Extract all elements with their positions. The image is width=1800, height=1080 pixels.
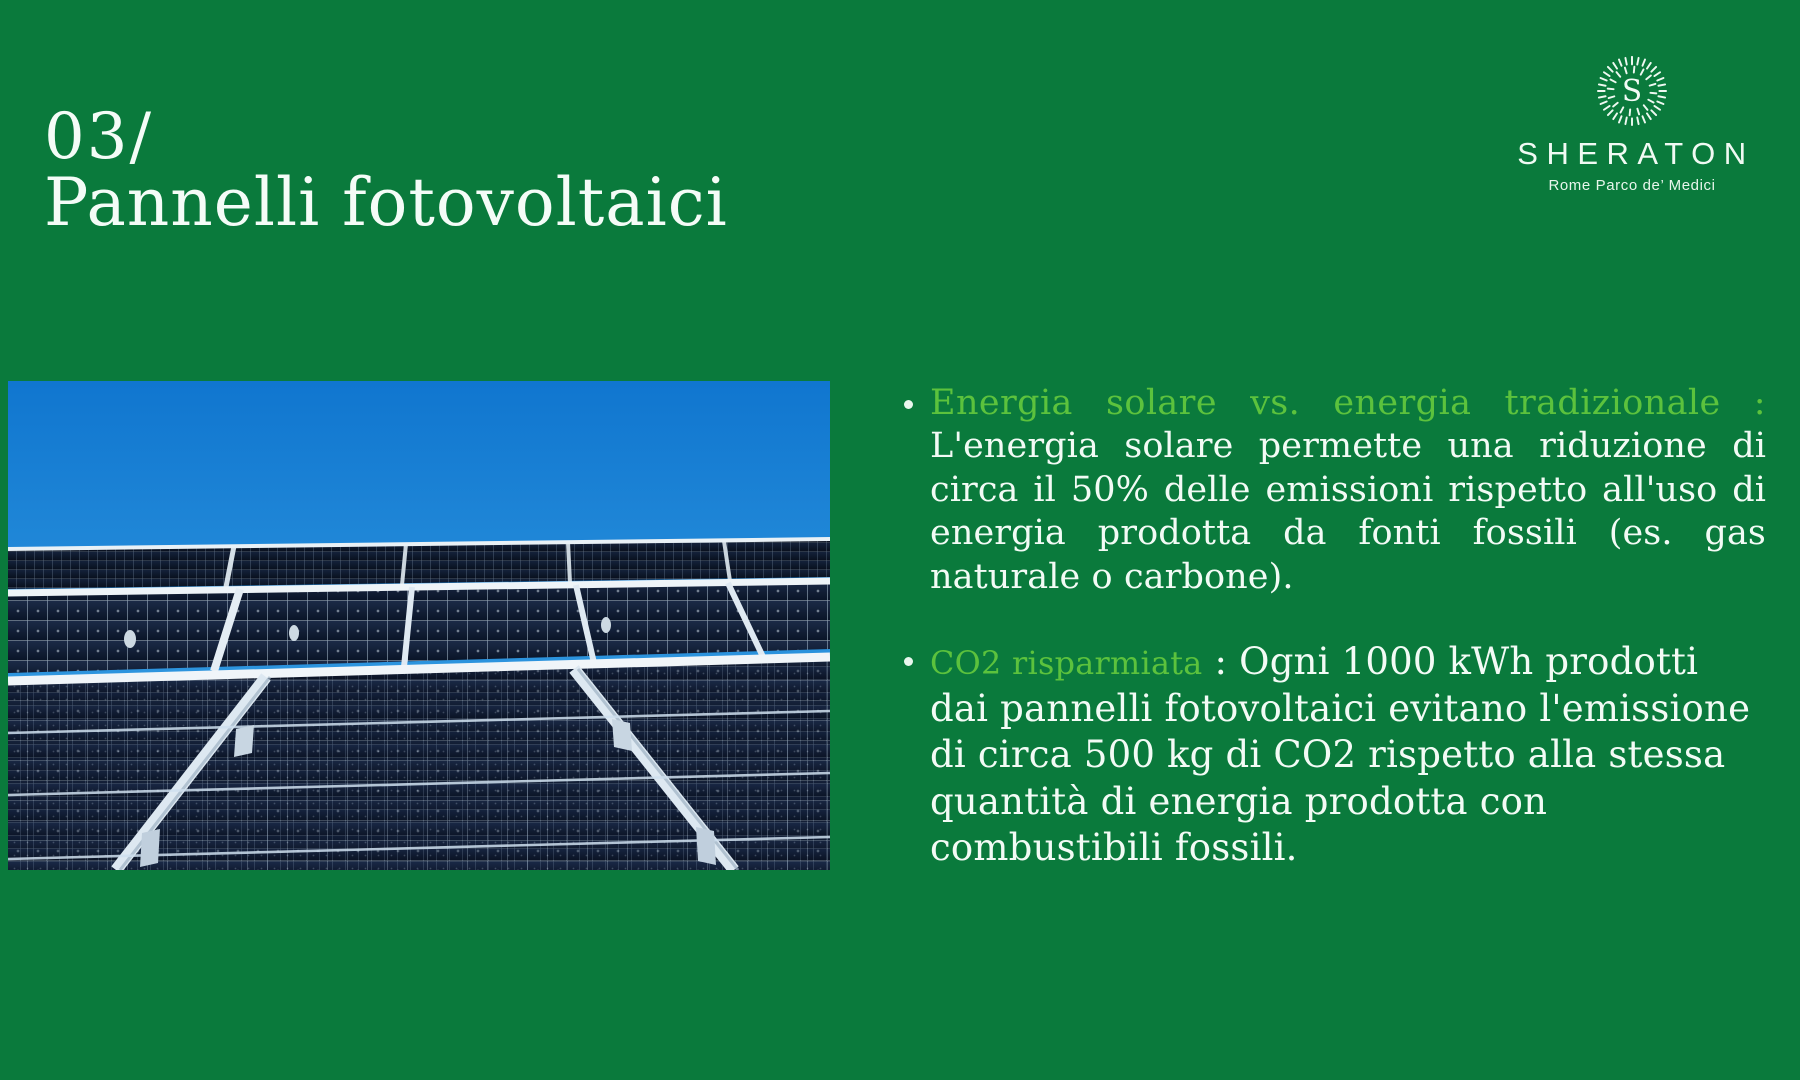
svg-text:S: S [1622,74,1642,108]
brand-subtitle: Rome Parco de’ Medici [1502,178,1762,193]
page-title: Pannelli fotovoltaici [44,169,728,236]
brand-logo: S SHERATON Rome Parco de’ Medici [1502,54,1762,193]
slide: 03/ Pannelli fotovoltaici [0,0,1800,1080]
sheraton-sunburst-emblem-icon: S [1595,54,1669,128]
bullet-text: Energia solare vs. energia tradizionale … [930,382,1766,599]
bullet-list: Energia solare vs. energia tradizionale … [898,382,1766,872]
list-item: Energia solare vs. energia tradizionale … [898,382,1766,599]
bullet-lead: CO2 risparmiata [930,644,1203,682]
bullet-dot-icon [904,400,913,409]
title-block: 03/ Pannelli fotovoltaici [44,108,728,236]
solar-panel-illustration [8,381,830,870]
bullet-description: L'energia solare permette una riduzione … [930,426,1766,596]
list-item: CO2 risparmiata : Ogni 1000 kWh prodotti… [898,639,1766,872]
slide-number: 03/ [44,108,728,167]
bullet-text: CO2 risparmiata : Ogni 1000 kWh prodotti… [930,639,1766,872]
brand-name: SHERATON [1502,138,1762,169]
solar-panel-photo [8,381,830,870]
bullet-dot-icon [904,657,913,666]
bullet-lead: Energia solare vs. energia tradizionale … [930,383,1766,423]
